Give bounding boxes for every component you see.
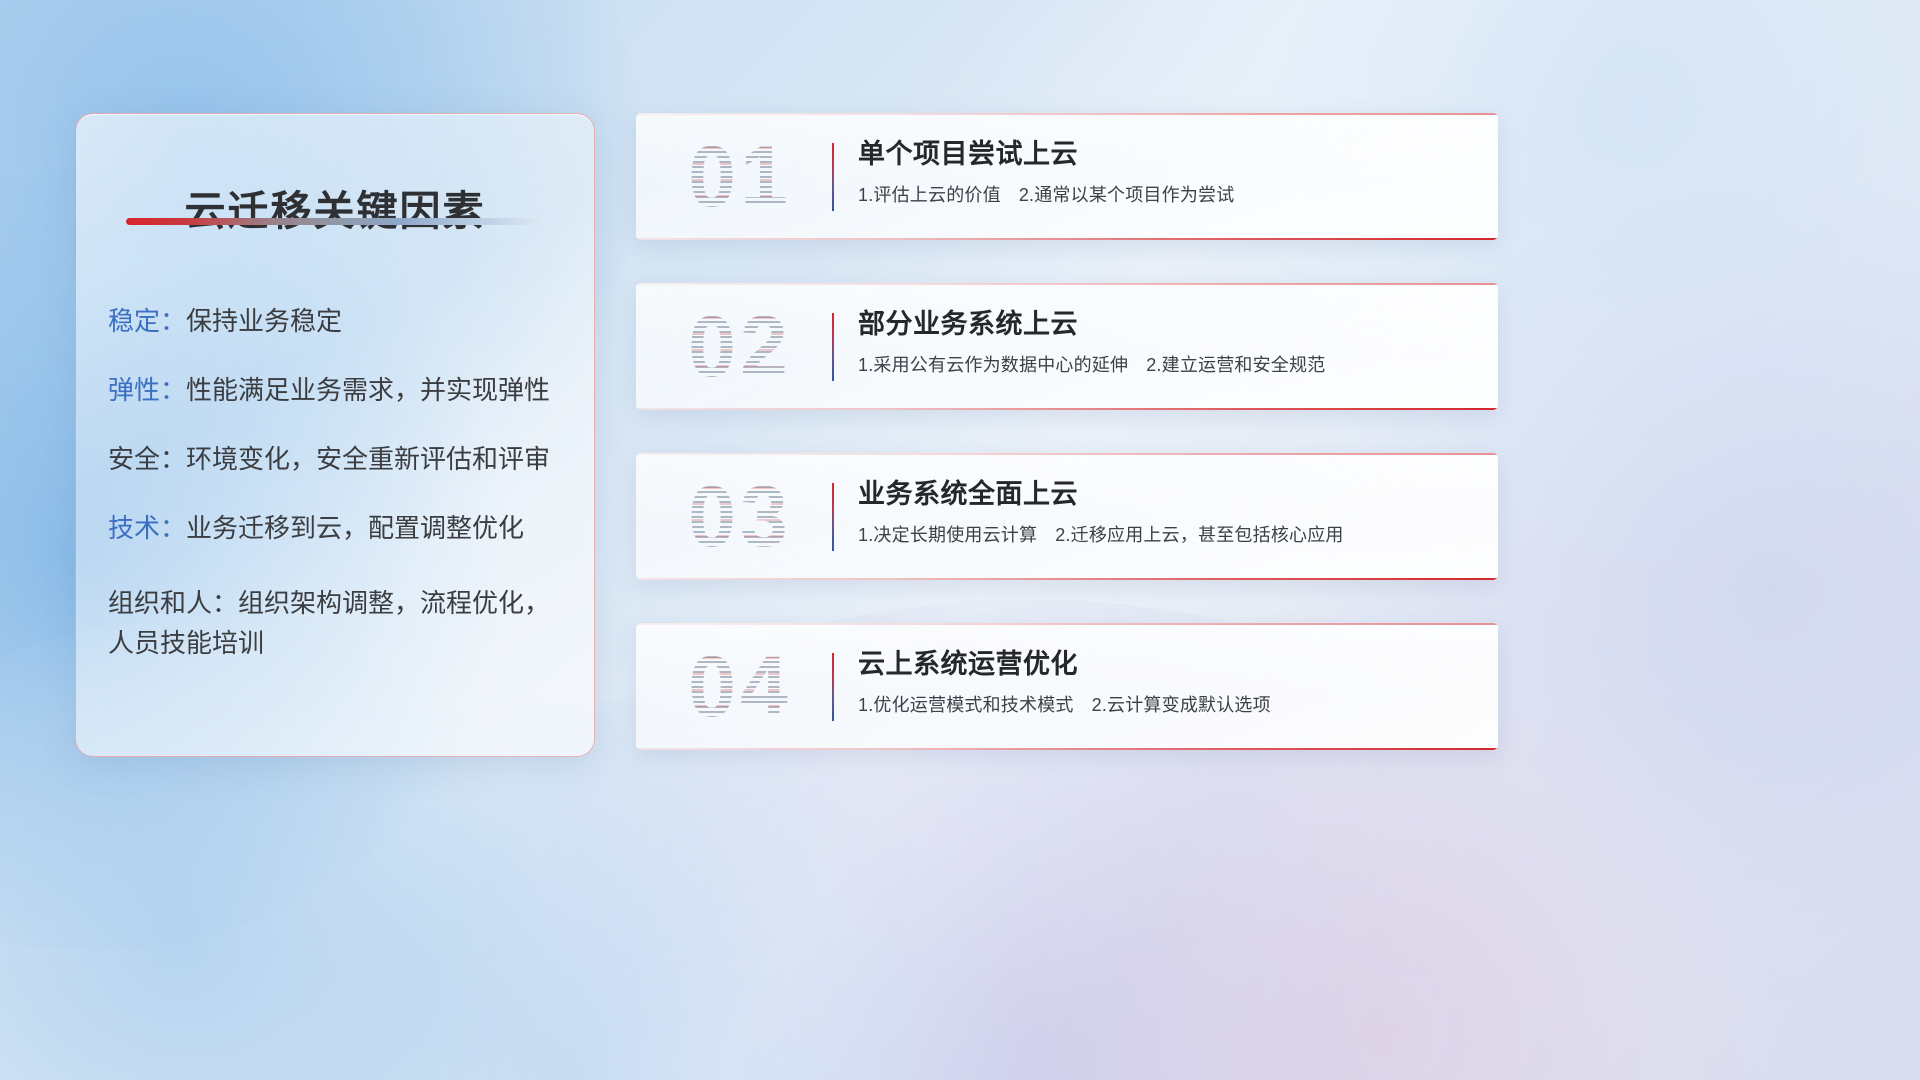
factor-text: 保持业务稳定 (186, 306, 342, 336)
stage-card[interactable]: 0404云上系统运营优化1.优化运营模式和技术模式2.云计算变成默认选项 (636, 623, 1498, 750)
factor-item: 组织和人：组织架构调整，流程优化，人员技能培训 (108, 584, 570, 663)
card-point: 1.决定长期使用云计算 (858, 525, 1037, 545)
card-point: 1.采用公有云作为数据中心的延伸 (858, 355, 1128, 375)
panel-title: 云迁移关键因素 (76, 177, 594, 237)
card-point: 1.评估上云的价值 (858, 185, 1001, 205)
card-top-accent-border (636, 623, 1498, 625)
stages-card-list: 0101单个项目尝试上云1.评估上云的价值2.通常以某个项目作为尝试0202部分… (636, 113, 1498, 750)
card-top-accent-border (636, 113, 1498, 115)
stage-card[interactable]: 0101单个项目尝试上云1.评估上云的价值2.通常以某个项目作为尝试 (636, 113, 1498, 240)
card-title: 部分业务系统上云 (858, 309, 1472, 340)
card-subtitle: 1.决定长期使用云计算2.迁移应用上云，甚至包括核心应用 (858, 524, 1472, 547)
factor-label: 安全： (108, 444, 186, 474)
card-bottom-accent-border (636, 748, 1498, 750)
factor-item: 安全：环境变化，安全重新评估和评审 (108, 446, 570, 472)
card-top-accent-border (636, 453, 1498, 455)
card-subtitle: 1.评估上云的价值2.通常以某个项目作为尝试 (858, 184, 1472, 207)
card-body: 部分业务系统上云1.采用公有云作为数据中心的延伸2.建立运营和安全规范 (858, 309, 1472, 377)
factor-list: 稳定：保持业务稳定弹性：性能满足业务需求，并实现弹性安全：环境变化，安全重新评估… (108, 308, 570, 663)
factor-text: 业务迁移到云，配置调整优化 (186, 513, 524, 543)
card-subtitle: 1.优化运营模式和技术模式2.云计算变成默认选项 (858, 694, 1472, 717)
factor-label: 稳定： (108, 306, 186, 336)
key-factors-panel: 云迁移关键因素 稳定：保持业务稳定弹性：性能满足业务需求，并实现弹性安全：环境变… (75, 113, 595, 757)
card-point: 2.通常以某个项目作为尝试 (1019, 185, 1235, 205)
card-bottom-accent-border (636, 238, 1498, 240)
card-bottom-accent-border (636, 408, 1498, 410)
card-divider-bar (832, 313, 834, 381)
card-divider-bar (832, 143, 834, 211)
card-point: 2.迁移应用上云，甚至包括核心应用 (1055, 525, 1343, 545)
factor-item: 技术：业务迁移到云，配置调整优化 (108, 515, 570, 541)
factor-text: 环境变化，安全重新评估和评审 (186, 444, 550, 474)
card-title: 单个项目尝试上云 (858, 139, 1472, 170)
card-body: 业务系统全面上云1.决定长期使用云计算2.迁移应用上云，甚至包括核心应用 (858, 479, 1472, 547)
title-underline-gradient (126, 218, 544, 225)
factor-label: 组织和人： (108, 588, 238, 618)
factor-item: 弹性：性能满足业务需求，并实现弹性 (108, 377, 570, 403)
card-bottom-accent-border (636, 578, 1498, 580)
stage-number-watermark: 03 (660, 471, 820, 563)
factor-label: 技术： (108, 513, 186, 543)
card-top-accent-border (636, 283, 1498, 285)
stage-number-watermark: 02 (660, 301, 820, 393)
card-point: 2.建立运营和安全规范 (1146, 355, 1325, 375)
card-subtitle: 1.采用公有云作为数据中心的延伸2.建立运营和安全规范 (858, 354, 1472, 377)
stage-card[interactable]: 0303业务系统全面上云1.决定长期使用云计算2.迁移应用上云，甚至包括核心应用 (636, 453, 1498, 580)
factor-label: 弹性： (108, 375, 186, 405)
card-title: 云上系统运营优化 (858, 649, 1472, 680)
factor-text: 性能满足业务需求，并实现弹性 (186, 375, 550, 405)
card-point: 2.云计算变成默认选项 (1092, 695, 1271, 715)
card-divider-bar (832, 483, 834, 551)
stage-number-watermark: 04 (660, 641, 820, 733)
card-point: 1.优化运营模式和技术模式 (858, 695, 1074, 715)
card-title: 业务系统全面上云 (858, 479, 1472, 510)
card-body: 单个项目尝试上云1.评估上云的价值2.通常以某个项目作为尝试 (858, 139, 1472, 207)
factor-item: 稳定：保持业务稳定 (108, 308, 570, 334)
stage-number-watermark: 01 (660, 131, 820, 223)
card-divider-bar (832, 653, 834, 721)
stage-card[interactable]: 0202部分业务系统上云1.采用公有云作为数据中心的延伸2.建立运营和安全规范 (636, 283, 1498, 410)
card-body: 云上系统运营优化1.优化运营模式和技术模式2.云计算变成默认选项 (858, 649, 1472, 717)
